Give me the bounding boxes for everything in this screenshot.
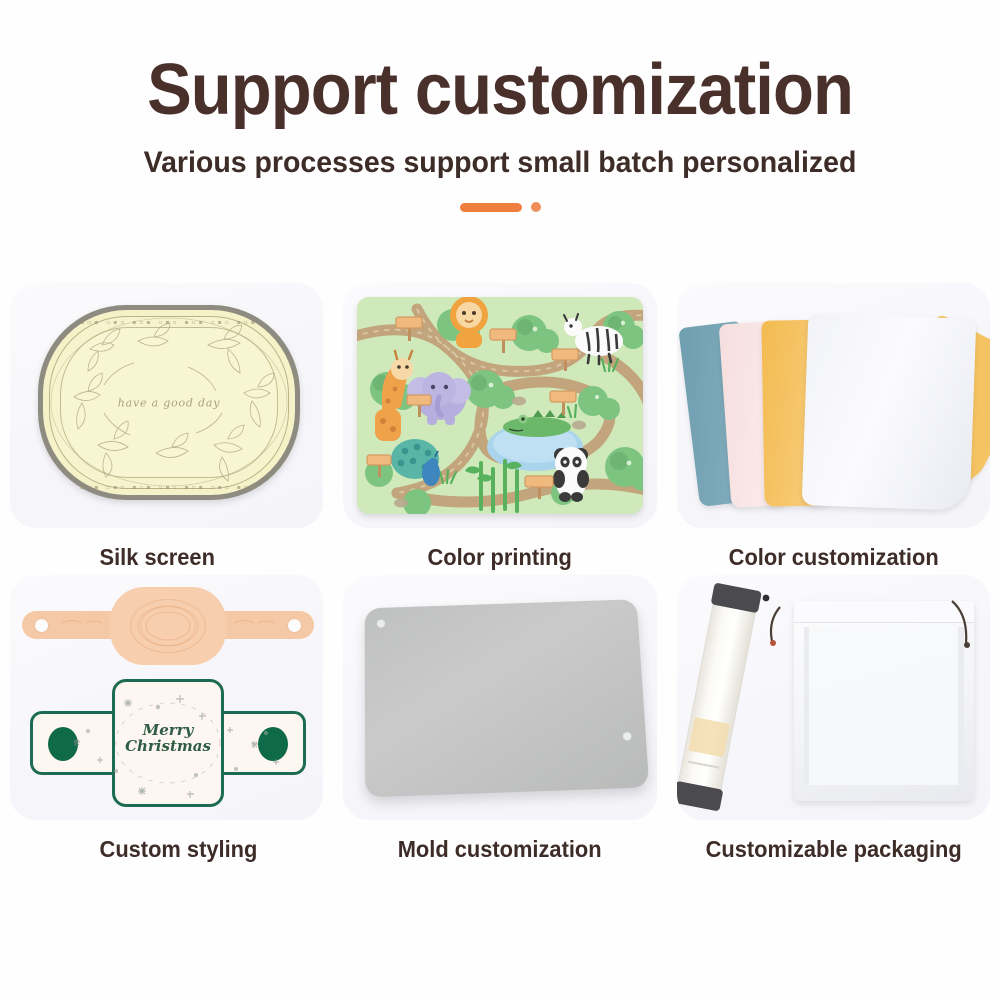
divider-dot-icon [531,202,541,212]
mold-hole-top-left [377,619,386,628]
swatch-white [801,313,976,511]
drawstring-cords-icon [752,583,982,703]
jungle-play-mat-image [357,297,642,514]
jungle-scene-icon [357,297,642,514]
svg-text:▪▫▪ ▫▪▫ ▪▫▪ ▫▪▫ ▪▫▪ ▫▪▫ ▪▫▪: ▪▫▪ ▫▪▫ ▪▫▪ ▫▪▫ ▪▫▪ ▫▪▫ ▪▫▪ [80,319,258,326]
grid-cell-color-customization: Color customization [667,283,1000,571]
product-card-mold-customization[interactable] [343,575,656,820]
card-caption-color-printing: Color printing [342,544,659,571]
strap-emboss-icon [22,587,314,665]
header: Support customization Various processes … [0,0,1000,212]
tube-label [688,717,730,757]
border-pattern-icon: ▪▫▪ ▫▪▫ ▪▫▪ ▫▪▫ ▪▫▪ ▫▪▫ ▪▫▪ ▪▫▪ ▫▪▫ ▪▫▪ … [38,305,300,500]
page-subtitle: Various processes support small batch pe… [25,146,975,180]
product-card-color-customization[interactable] [677,283,990,528]
card-caption-silk-screen: Silk screen [8,544,325,571]
divider [0,202,1000,212]
infographic-page: Support customization Various processes … [0,0,1000,1000]
product-card-silk-screen[interactable]: have a good day ▪▫▪ ▫▪▫ ▪▫▪ ▫▪▫ ▪▫▪ ▫▪▫ … [10,283,323,528]
feature-grid: have a good day ▪▫▪ ▫▪▫ ▪▫▪ ▫▪▫ ▪▫▪ ▫▪▫ … [0,283,1000,863]
card-caption-custom-styling: Custom styling [8,836,325,863]
xmas-line-2: Christmas [125,737,211,755]
grid-cell-customizable-packaging: Customizable packaging [667,575,1000,863]
color-swatch-stack-image [677,283,990,528]
card-caption-mold-customization: Mold customization [342,836,659,863]
mold-hole-bottom-right [623,732,633,741]
oval-placemat-image: have a good day ▪▫▪ ▫▪▫ ▪▫▪ ▫▪▫ ▪▫▪ ▫▪▫ … [38,305,300,500]
grid-cell-custom-styling: Merry Christmas Custom styling [0,575,333,863]
svg-text:▪▫▪ ▫▪▫ ▪▫▪ ▫▪▫ ▪▫▪ ▫▪▫ ▪▫▪: ▪▫▪ ▫▪▫ ▪▫▪ ▫▪▫ ▪▫▪ ▫▪▫ ▪▫▪ [80,484,258,491]
peach-strap-mat-image [22,587,314,665]
page-title: Support customization [35,54,965,126]
gray-mold-mat-image [365,599,650,797]
product-card-customizable-packaging[interactable] [677,575,990,820]
christmas-greeting-text: Merry Christmas [112,723,224,755]
grid-cell-silk-screen: have a good day ▪▫▪ ▫▪▫ ▪▫▪ ▫▪▫ ▪▫▪ ▫▪▫ … [0,283,333,571]
grid-cell-mold-customization: Mold customization [333,575,666,863]
divider-bar-icon [460,203,522,212]
card-caption-customizable-packaging: Customizable packaging [675,836,992,863]
grid-cell-color-printing: Color printing [333,283,666,571]
product-card-color-printing[interactable] [343,283,656,528]
card-caption-color-customization: Color customization [675,544,992,571]
rolled-mat-tube-image [677,587,759,807]
product-card-custom-styling[interactable]: Merry Christmas [10,575,323,820]
christmas-cross-mat-image: Merry Christmas [30,679,306,807]
